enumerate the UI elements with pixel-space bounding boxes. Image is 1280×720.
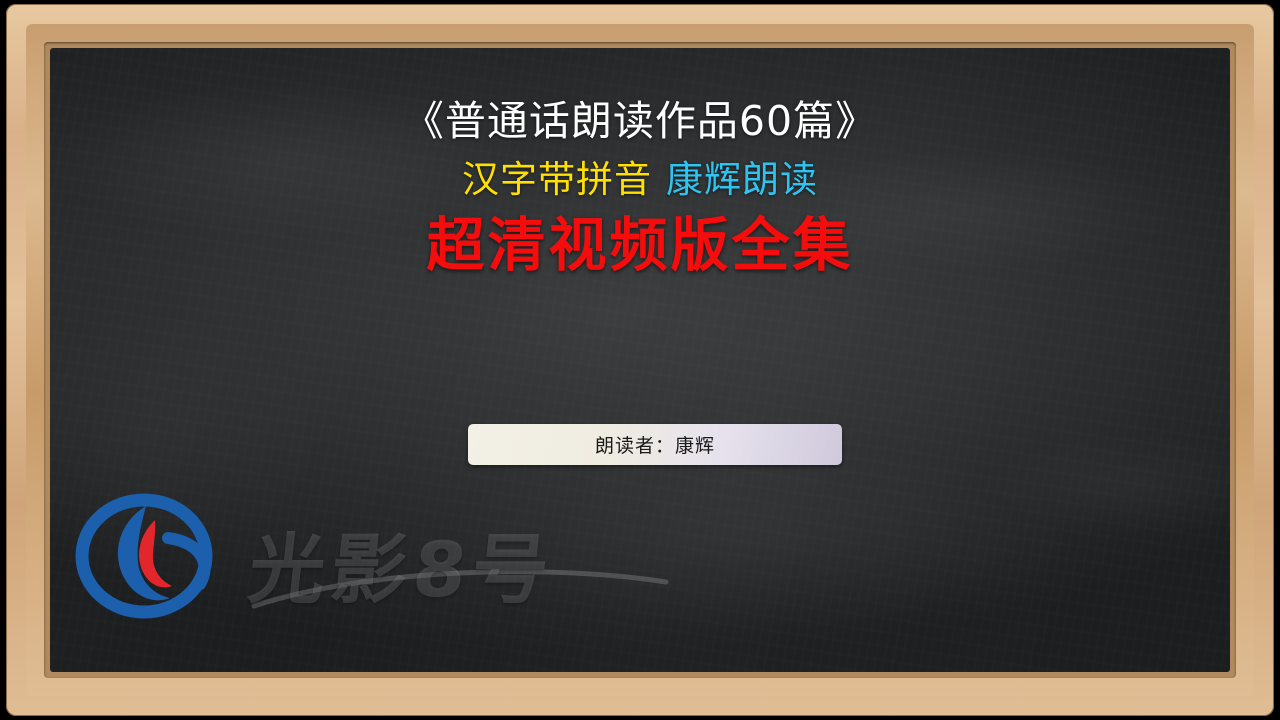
subtitle-pinyin-label: 汉字带拼音 — [462, 158, 652, 201]
subtitle-row: 汉字带拼音康辉朗读 — [0, 156, 1280, 204]
channel-logo-icon — [72, 490, 222, 620]
subtitle-reader-label: 康辉朗读 — [666, 158, 818, 201]
reader-plaque: 朗读者：康辉 — [468, 424, 842, 465]
watermark-label: 光影8号 — [244, 508, 560, 618]
reader-plaque-label: 朗读者：康辉 — [595, 431, 715, 458]
title-block: 《普通话朗读作品60篇》 汉字带拼音康辉朗读 超清视频版全集 — [0, 96, 1280, 281]
page-title: 《普通话朗读作品60篇》 — [0, 96, 1280, 148]
headline-banner: 超清视频版全集 — [0, 210, 1280, 281]
video-thumbnail-card: 《普通话朗读作品60篇》 汉字带拼音康辉朗读 超清视频版全集 朗读者：康辉 光影… — [0, 0, 1280, 720]
